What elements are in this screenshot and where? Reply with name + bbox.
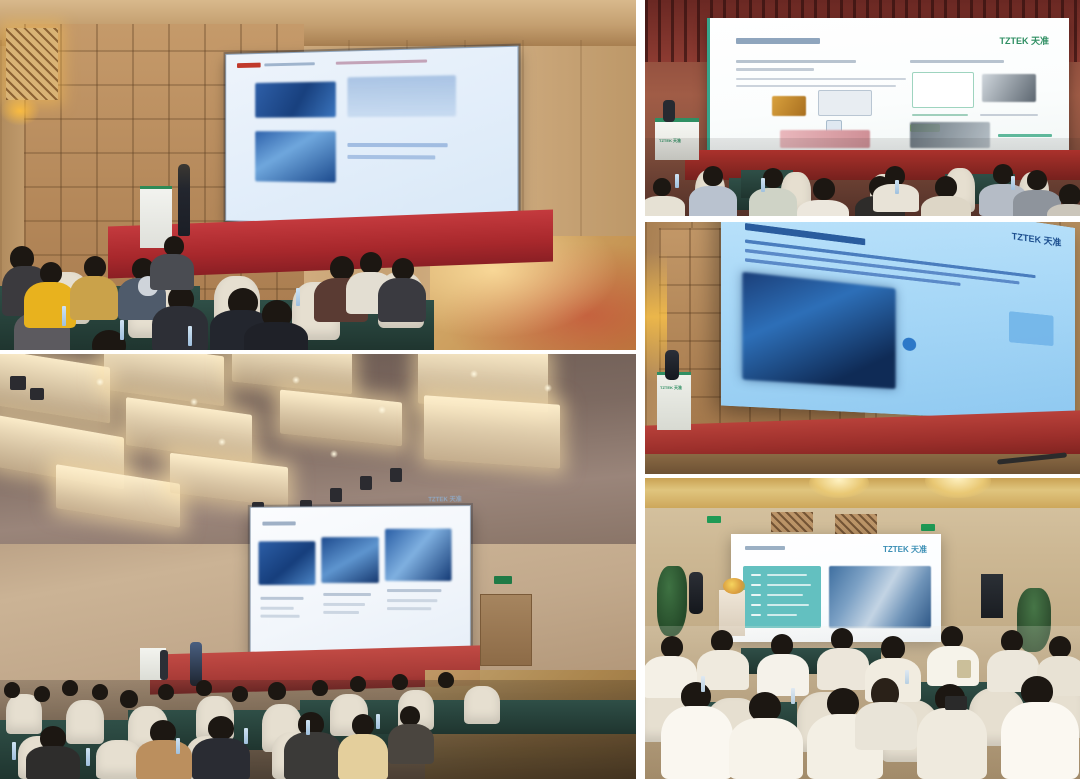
slide-caption-2 bbox=[323, 593, 371, 596]
photo-collage: TZTEK 天准 bbox=[0, 0, 1080, 779]
speaker-stack bbox=[981, 574, 1003, 618]
side-door bbox=[480, 594, 532, 666]
speaker-person bbox=[665, 350, 679, 380]
slide-logo: TZTEK 天准 bbox=[428, 494, 461, 503]
slide-text-block-1 bbox=[347, 75, 456, 117]
slide-arrow bbox=[903, 337, 917, 351]
exit-sign bbox=[494, 576, 512, 584]
speaker-person bbox=[178, 164, 190, 236]
photo-top-left[interactable] bbox=[0, 0, 636, 350]
slide-image-2 bbox=[255, 131, 336, 183]
slide-photo-left bbox=[742, 272, 895, 389]
slide-handshake-photo bbox=[829, 566, 931, 628]
slide-logo: TZTEK 天准 bbox=[1000, 34, 1050, 47]
podium: TZTEK 天准 bbox=[657, 372, 691, 430]
slide-teal-panel bbox=[743, 566, 821, 628]
audience-area bbox=[0, 680, 636, 779]
warm-wall-glow bbox=[0, 96, 40, 126]
slide-right-heading bbox=[910, 60, 1004, 63]
slide-image-1 bbox=[255, 82, 336, 118]
slide-image-2 bbox=[321, 537, 379, 583]
photo-bottom-right[interactable]: TZTEK 天准 bbox=[645, 478, 1080, 779]
slide-image-1 bbox=[259, 541, 316, 585]
slide-caption-1 bbox=[260, 597, 303, 600]
podium-logo: TZTEK 天准 bbox=[660, 385, 682, 391]
slide-title bbox=[745, 546, 785, 550]
slide-section-title bbox=[736, 38, 820, 44]
slide-logo: TZTEK 天准 bbox=[1012, 229, 1062, 249]
lattice-panel-2 bbox=[835, 514, 877, 534]
slide-thumb-equipment bbox=[772, 96, 806, 116]
led-screen bbox=[225, 46, 518, 230]
exit-sign-left bbox=[707, 516, 721, 523]
slide-caption-3 bbox=[387, 589, 441, 592]
led-screen: TZTEK 天准 bbox=[250, 505, 471, 655]
audience-area bbox=[645, 138, 1080, 216]
led-screen: TZTEK 天准 bbox=[707, 18, 1069, 154]
photo-bottom-left[interactable]: TZTEK 天准 bbox=[0, 354, 636, 779]
slide-image-3 bbox=[385, 528, 452, 581]
podium-flowers bbox=[723, 578, 745, 594]
slide-diagram-box bbox=[818, 90, 872, 116]
slide-header-text bbox=[264, 62, 314, 66]
slide-text-line-2 bbox=[347, 155, 435, 160]
photo-top-right[interactable]: TZTEK 天准 TZTEK 天准 bbox=[645, 0, 1080, 216]
slide-logo: TZTEK 天准 bbox=[883, 544, 927, 555]
slide-diagram-photo bbox=[982, 74, 1036, 102]
slide-title bbox=[262, 521, 295, 525]
lattice-panel-1 bbox=[771, 512, 813, 532]
slide-logo-mark bbox=[237, 63, 261, 68]
slide-header-subtext bbox=[336, 59, 427, 64]
slide-photo-right-inset bbox=[1009, 311, 1053, 346]
assistant-person bbox=[160, 650, 168, 680]
exit-sign-right bbox=[921, 524, 935, 531]
audience-area bbox=[645, 626, 1080, 779]
slide-text-line-1 bbox=[347, 143, 447, 147]
presenter-person bbox=[689, 572, 703, 614]
slide-flow-diagram bbox=[912, 72, 974, 108]
speaker-person bbox=[663, 100, 675, 122]
photo-middle-right[interactable]: TZTEK 天准 TZTEK 天准 bbox=[645, 222, 1080, 474]
drink-carton bbox=[957, 660, 971, 678]
notebook-on-table bbox=[945, 696, 967, 710]
lattice-window bbox=[6, 28, 58, 100]
led-screen: TZTEK 天准 bbox=[721, 222, 1075, 423]
warm-wall-glow bbox=[645, 252, 667, 382]
